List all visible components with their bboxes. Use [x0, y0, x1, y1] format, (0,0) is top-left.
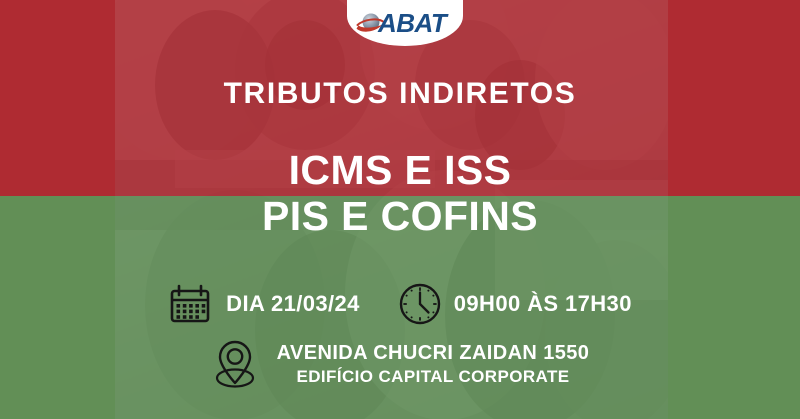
kicker-text: TRIBUTOS INDIRETOS	[0, 77, 800, 111]
logo-wordmark: ABAT	[378, 8, 446, 38]
map-pin-icon	[211, 338, 259, 390]
event-date: DIA 21/03/24	[226, 291, 360, 317]
logo-lockup: ABAT	[355, 9, 455, 41]
address-line-1: AVENIDA CHUCRI ZAIDAN 1550	[277, 341, 590, 366]
title-line-2: PIS E COFINS	[0, 193, 800, 240]
logo-badge: ABAT	[347, 0, 463, 46]
address-line-2: EDIFÍCIO CAPITAL CORPORATE	[277, 366, 590, 388]
title-line-1: ICMS E ISS	[0, 147, 800, 194]
calendar-icon	[168, 283, 212, 325]
event-poster: ABAT TRIBUTOS INDIRETOS ICMS E ISS PIS E…	[0, 0, 800, 419]
clock-icon	[398, 282, 442, 326]
location-row: AVENIDA CHUCRI ZAIDAN 1550 EDIFÍCIO CAPI…	[0, 338, 800, 390]
event-time: 09H00 ÀS 17H30	[454, 291, 632, 317]
event-details: DIA 21/03/24	[0, 282, 800, 390]
event-address: AVENIDA CHUCRI ZAIDAN 1550 EDIFÍCIO CAPI…	[277, 341, 590, 388]
datetime-row: DIA 21/03/24	[0, 282, 800, 326]
